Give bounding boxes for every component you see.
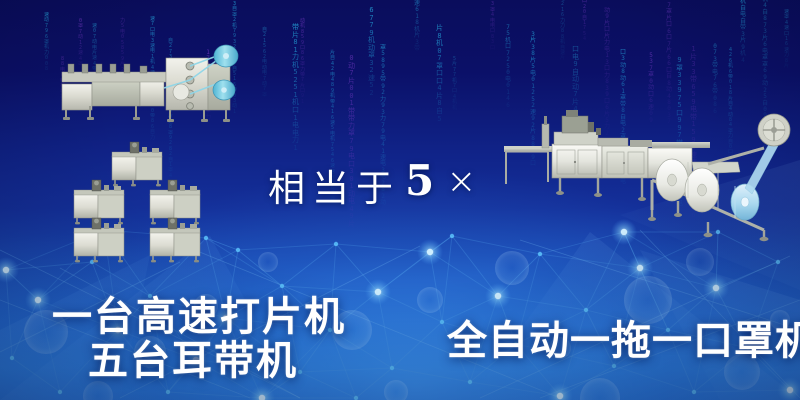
right-caption: 全自动一拖一口罩机 bbox=[447, 308, 800, 366]
left-caption-line2: 五台耳带机 bbox=[88, 328, 298, 386]
ear-band-welding-machine bbox=[70, 216, 132, 264]
multiplier-number: 5 bbox=[405, 156, 434, 205]
high-speed-blank-machine bbox=[44, 44, 244, 134]
equivalence-text: 相当于 bbox=[268, 158, 400, 212]
multiplier-group: 5× bbox=[405, 156, 476, 205]
automatic-mask-machine bbox=[502, 102, 792, 244]
ear-band-welding-machine bbox=[146, 216, 208, 264]
promo-banner: 88电8电机动罩50罩7动12速4罩速07动电片速4带95力5电05859片25… bbox=[0, 0, 800, 400]
multiply-icon: × bbox=[446, 161, 476, 202]
